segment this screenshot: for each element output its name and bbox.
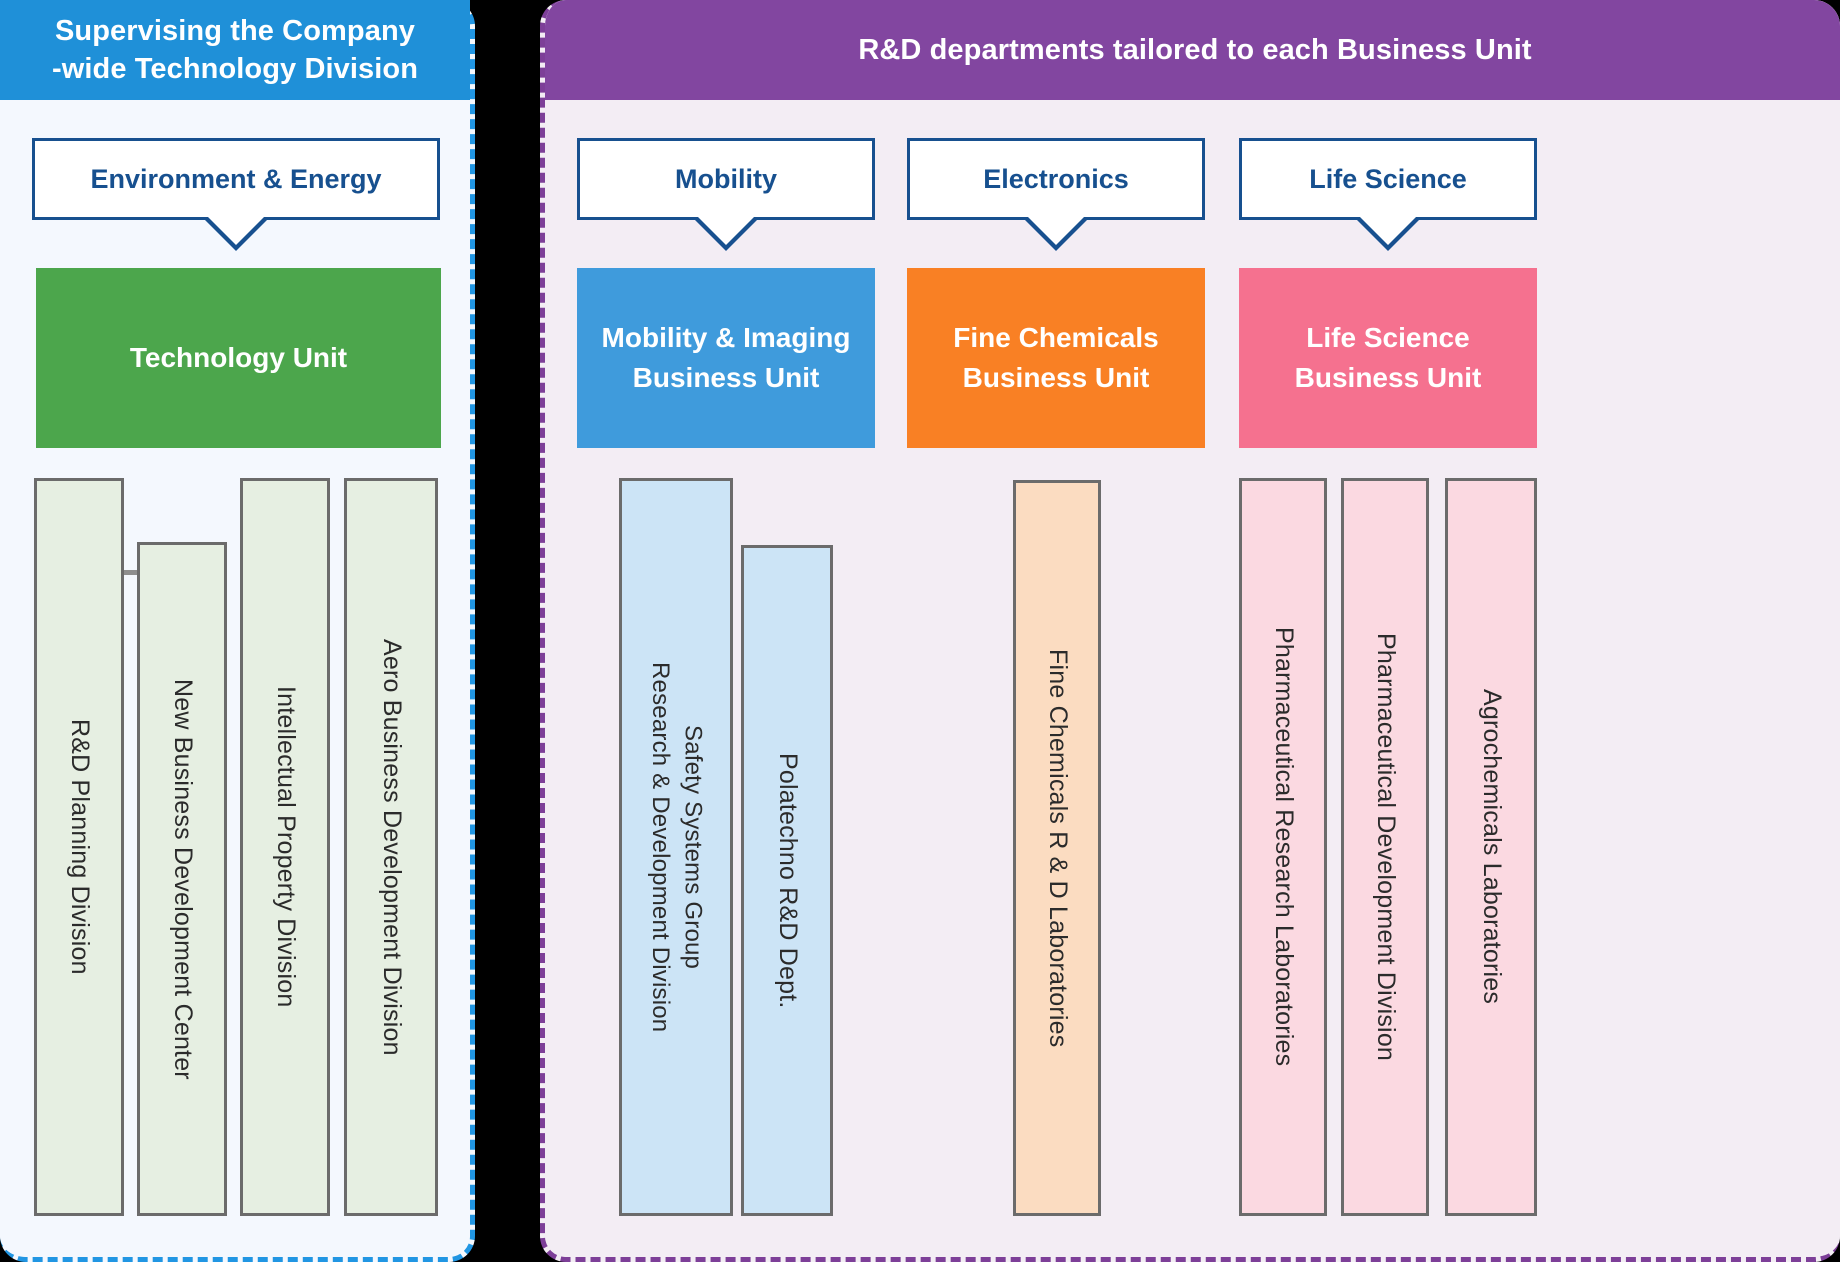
- unit-mobility-imaging-line-1: Mobility & Imaging: [602, 318, 851, 358]
- callout-mobility-label: Mobility: [675, 164, 777, 195]
- callout-notch-inner-icon: [696, 215, 756, 245]
- left-banner-line-2: -wide Technology Division: [52, 50, 418, 88]
- department-box-pharmaceutical-development-division[interactable]: Pharmaceutical Development Division: [1341, 478, 1429, 1216]
- left-panel-banner: Supervising the Company -wide Technology…: [0, 0, 470, 100]
- unit-technology-label: Technology Unit: [130, 338, 347, 378]
- unit-fine-chemicals[interactable]: Fine Chemicals Business Unit: [907, 268, 1205, 448]
- callout-life-science[interactable]: Life Science: [1239, 138, 1537, 220]
- callout-environment-energy[interactable]: Environment & Energy: [32, 138, 440, 220]
- callout-electronics-label: Electronics: [983, 164, 1129, 195]
- unit-life-science-line-1: Life Science: [1295, 318, 1482, 358]
- right-panel-banner: R&D departments tailored to each Busines…: [545, 0, 1840, 100]
- callout-electronics[interactable]: Electronics: [907, 138, 1205, 220]
- callout-mobility[interactable]: Mobility: [577, 138, 875, 220]
- unit-fine-chemicals-line-1: Fine Chemicals: [953, 318, 1158, 358]
- unit-technology[interactable]: Technology Unit: [36, 268, 441, 448]
- callout-notch-inner-icon: [1026, 215, 1086, 245]
- department-label-polatechno: Polatechno R&D Dept.: [770, 753, 804, 1009]
- unit-life-science[interactable]: Life Science Business Unit: [1239, 268, 1537, 448]
- department-box-intellectual-property[interactable]: Intellectual Property Division: [240, 478, 330, 1216]
- callout-life-science-label: Life Science: [1309, 164, 1467, 195]
- right-banner-label: R&D departments tailored to each Busines…: [858, 31, 1531, 69]
- unit-mobility-imaging[interactable]: Mobility & Imaging Business Unit: [577, 268, 875, 448]
- unit-fine-chemicals-line-2: Business Unit: [953, 358, 1158, 398]
- left-banner-line-1: Supervising the Company: [52, 12, 418, 50]
- department-label-rd-planning: R&D Planning Division: [62, 719, 96, 975]
- department-label-intellectual-property: Intellectual Property Division: [268, 686, 302, 1007]
- department-label-pharmaceutical-development-division: Pharmaceutical Development Division: [1368, 633, 1402, 1061]
- unit-mobility-imaging-line-2: Business Unit: [602, 358, 851, 398]
- department-label-pharmaceutical-research-laboratories: Pharmaceutical Research Laboratories: [1266, 627, 1300, 1066]
- department-label-fine-chemicals-rd-laboratories: Fine Chemicals R & D Laboratories: [1040, 649, 1074, 1047]
- department-label-new-business-development-center: New Business Development Center: [165, 679, 199, 1080]
- department-box-safety-systems-group[interactable]: Safety Systems Group Research & Developm…: [619, 478, 733, 1216]
- department-label-agrochemicals-laboratories: Agrochemicals Laboratories: [1474, 689, 1508, 1004]
- diagram-canvas: Supervising the Company -wide Technology…: [0, 0, 1840, 1262]
- unit-life-science-line-2: Business Unit: [1295, 358, 1482, 398]
- department-box-rd-planning[interactable]: R&D Planning Division: [34, 478, 124, 1216]
- department-label-aero-business-development: Aero Business Development Division: [374, 639, 408, 1056]
- callout-notch-inner-icon: [206, 215, 266, 245]
- department-box-new-business-development-center[interactable]: New Business Development Center: [137, 542, 227, 1216]
- callout-notch-inner-icon: [1358, 215, 1418, 245]
- department-label-safety-systems-group-line-2: Research & Development Division: [644, 662, 676, 1032]
- right-panel: R&D departments tailored to each Busines…: [540, 0, 1840, 1262]
- department-label-safety-systems-group-line-1: Safety Systems Group: [676, 725, 708, 969]
- department-box-polatechno-rd-dept[interactable]: Polatechno R&D Dept.: [741, 545, 833, 1216]
- department-box-aero-business-development[interactable]: Aero Business Development Division: [344, 478, 438, 1216]
- department-box-pharmaceutical-research-laboratories[interactable]: Pharmaceutical Research Laboratories: [1239, 478, 1327, 1216]
- callout-environment-energy-label: Environment & Energy: [90, 164, 381, 195]
- department-box-agrochemicals-laboratories[interactable]: Agrochemicals Laboratories: [1445, 478, 1537, 1216]
- department-box-fine-chemicals-rd-laboratories[interactable]: Fine Chemicals R & D Laboratories: [1013, 480, 1101, 1216]
